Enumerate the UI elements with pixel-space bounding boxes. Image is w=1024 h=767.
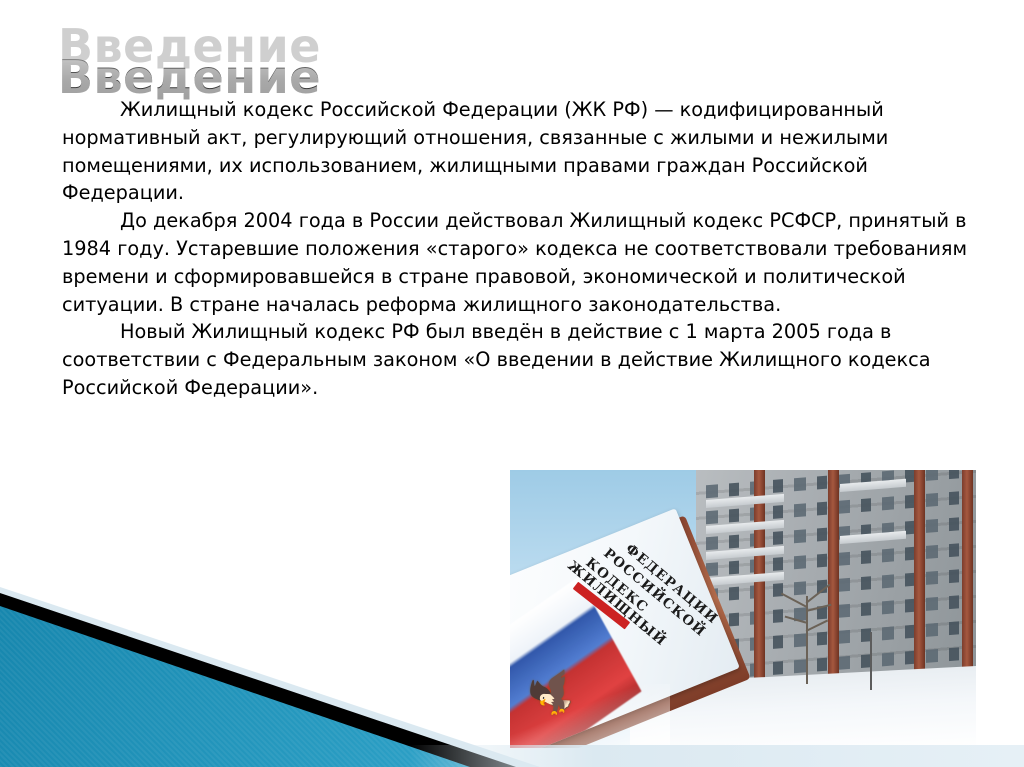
slide: Введение Введение Жилищный кодекс Россий… [0, 0, 1024, 767]
slide-photo: 🦅 ЖИЛИЩНЫЙ КОДЕКС РОССИЙСКОЙ ФЕДЕРАЦИИ [510, 470, 976, 748]
decor-bottom-strip [0, 745, 1024, 767]
body-paragraph-2: До декабря 2004 года в России действовал… [62, 207, 968, 318]
photo-corner-fade [510, 684, 670, 748]
photo-building-pillar [914, 470, 925, 694]
slide-body-text: Жилищный кодекс Российской Федерации (ЖК… [62, 96, 968, 402]
page-title: Введение [58, 52, 321, 103]
body-paragraph-3: Новый Жилищный кодекс РФ был введён в де… [62, 318, 968, 401]
body-paragraph-1: Жилищный кодекс Российской Федерации (ЖК… [62, 96, 968, 207]
photo-lamppost [870, 632, 872, 690]
photo-building-pillar [962, 470, 973, 690]
photo-bare-tree [806, 596, 808, 684]
